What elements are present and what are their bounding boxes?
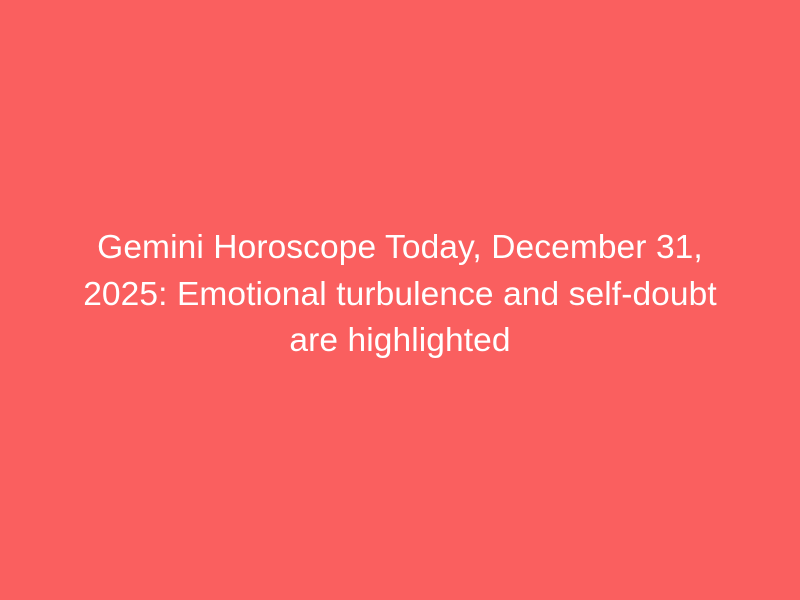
horoscope-headline-card: Gemini Horoscope Today, December 31, 202… [0,0,800,600]
headline-container: Gemini Horoscope Today, December 31, 202… [0,0,800,590]
page-title: Gemini Horoscope Today, December 31, 202… [50,225,750,365]
